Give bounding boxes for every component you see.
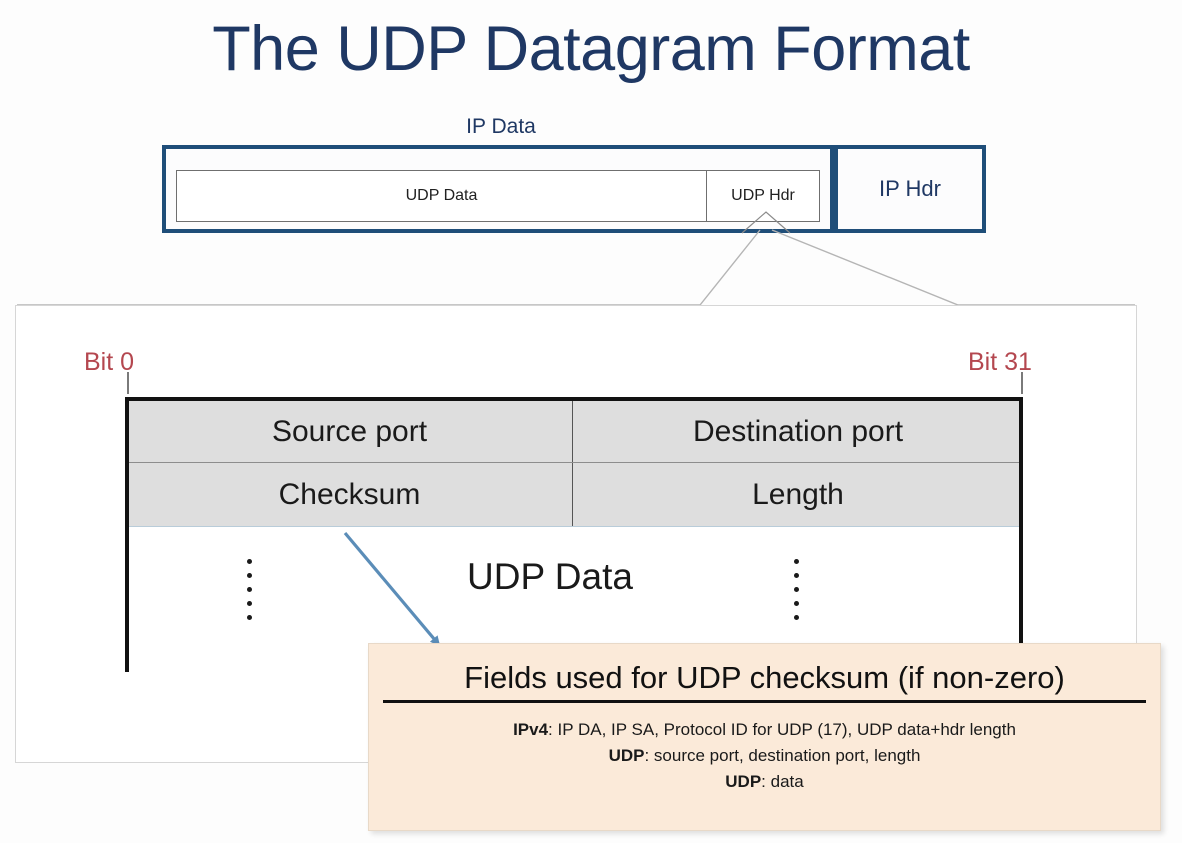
bit-31-tick <box>1021 372 1023 394</box>
udp-payload-label: UDP Data <box>400 556 700 598</box>
vertical-ellipsis-left-icon <box>247 559 253 629</box>
callout-body: IPv4: IP DA, IP SA, Protocol ID for UDP … <box>369 717 1160 795</box>
ip-hdr-box-label: IP Hdr <box>879 176 941 202</box>
callout-heading: Fields used for UDP checksum (if non-zer… <box>383 658 1146 703</box>
bit-0-tick <box>127 372 129 394</box>
callout-line: UDP: source port, destination port, leng… <box>369 743 1160 769</box>
payload-left-border <box>125 397 129 672</box>
destination-port-label: Destination port <box>693 415 903 449</box>
checksum-label: Checksum <box>279 478 421 512</box>
field-cell-destination-port: Destination port <box>573 401 1023 462</box>
callout-line-label: UDP <box>609 746 645 765</box>
callout-line-text: : source port, destination port, length <box>644 746 920 765</box>
callout-line: IPv4: IP DA, IP SA, Protocol ID for UDP … <box>369 717 1160 743</box>
ip-hdr-box: IP Hdr <box>834 145 986 233</box>
page-title: The UDP Datagram Format <box>0 6 1182 92</box>
payload-right-border <box>1019 397 1023 659</box>
callout-line-label: IPv4 <box>513 720 548 739</box>
udp-data-box: UDP Data <box>176 170 707 222</box>
udp-hdr-box: UDP Hdr <box>707 170 820 222</box>
udp-segment-row: UDP Data UDP Hdr <box>176 170 820 222</box>
callout-line: UDP: data <box>369 769 1160 795</box>
ip-data-span-label: IP Data <box>160 112 842 142</box>
checksum-callout-box: Fields used for UDP checksum (if non-zer… <box>368 643 1161 831</box>
field-cell-source-port: Source port <box>127 401 573 462</box>
field-cell-length: Length <box>573 463 1023 526</box>
table-row: Source port Destination port <box>127 401 1023 462</box>
udp-header-field-table: Source port Destination port Checksum Le… <box>127 397 1023 523</box>
field-cell-checksum: Checksum <box>127 463 573 526</box>
callout-line-label: UDP <box>725 772 761 791</box>
callout-line-text: : IP DA, IP SA, Protocol ID for UDP (17)… <box>548 720 1016 739</box>
udp-hdr-box-label: UDP Hdr <box>731 187 795 205</box>
source-port-label: Source port <box>272 415 427 449</box>
callout-line-text: : data <box>761 772 804 791</box>
packet-diagram: UDP Data UDP Hdr IP Hdr <box>162 145 986 233</box>
table-row: Checksum Length <box>127 462 1023 527</box>
vertical-ellipsis-right-icon <box>794 559 800 629</box>
udp-data-box-label: UDP Data <box>406 187 478 205</box>
length-label: Length <box>752 478 844 512</box>
